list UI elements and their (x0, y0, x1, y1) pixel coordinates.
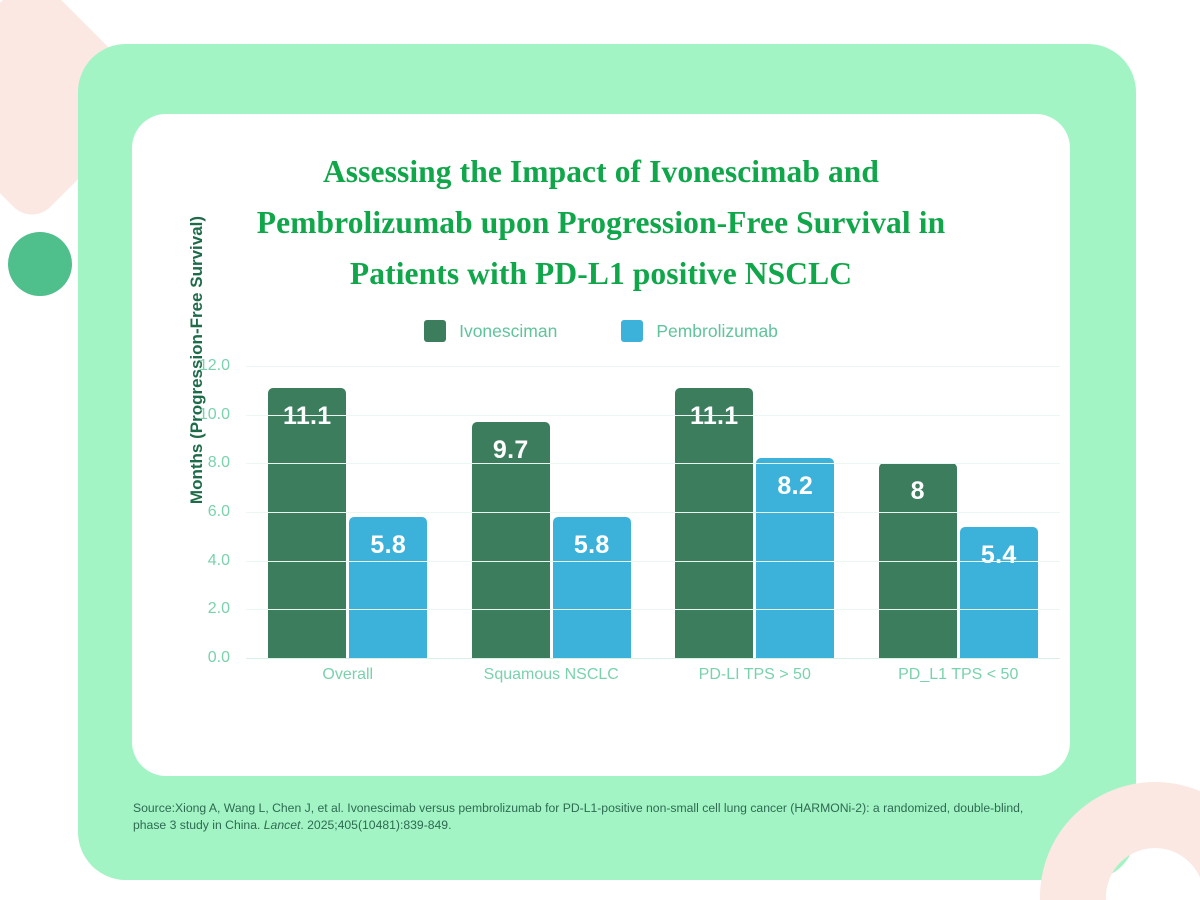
chart-panel: Assessing the Impact of Ivonescimab and … (132, 114, 1070, 776)
y-axis-tick: 0.0 (208, 649, 230, 667)
y-axis-tick: 12.0 (199, 357, 230, 375)
bar-ivonesciman[interactable]: 11.1 (268, 388, 346, 658)
x-axis-label: Squamous NSCLC (450, 666, 654, 684)
legend-label-ivonesciman: Ivonesciman (459, 321, 557, 342)
bar-value-label: 5.8 (574, 531, 610, 560)
bar-pembrolizumab[interactable]: 5.8 (349, 517, 427, 658)
chart-legend: Ivonesciman Pembrolizumab (132, 320, 1070, 342)
gridline (246, 512, 1060, 513)
legend-item-pembrolizumab[interactable]: Pembrolizumab (621, 320, 778, 342)
chart-title: Assessing the Impact of Ivonescimab and … (180, 146, 1022, 299)
chart-title-line-2: Pembrolizumab upon Progression-Free Surv… (180, 197, 1022, 248)
bar-ivonesciman[interactable]: 9.7 (472, 422, 550, 658)
bar-pembrolizumab[interactable]: 8.2 (756, 458, 834, 658)
x-axis-label: PD_L1 TPS < 50 (857, 666, 1061, 684)
plot-area: 11.15.89.75.811.18.285.4 (246, 366, 1060, 659)
y-axis-tick: 6.0 (208, 503, 230, 521)
slide-canvas: Assessing the Impact of Ivonescimab and … (0, 0, 1200, 900)
bar-value-label: 11.1 (690, 402, 738, 431)
bar-value-label: 5.8 (370, 531, 406, 560)
bar-value-label: 5.4 (981, 541, 1017, 570)
x-axis-label: Overall (246, 666, 450, 684)
gridline (246, 463, 1060, 464)
plot-wrapper: 12.010.08.06.04.02.00.0 11.15.89.75.811.… (190, 366, 1060, 706)
gridline (246, 415, 1060, 416)
chart-title-line-3: Patients with PD-L1 positive NSCLC (180, 248, 1022, 299)
decor-green-circle (8, 232, 72, 296)
x-axis-labels: OverallSquamous NSCLCPD-LI TPS > 50PD_L1… (246, 666, 1060, 684)
chart-title-line-1: Assessing the Impact of Ivonescimab and (180, 146, 1022, 197)
legend-item-ivonesciman[interactable]: Ivonesciman (424, 320, 557, 342)
gridline (246, 561, 1060, 562)
y-axis-ticks: 12.010.08.06.04.02.00.0 (190, 366, 238, 658)
bar-pembrolizumab[interactable]: 5.8 (553, 517, 631, 658)
bar-value-label: 11.1 (283, 402, 331, 431)
y-axis-tick: 4.0 (208, 552, 230, 570)
gridline (246, 366, 1060, 367)
gridline (246, 609, 1060, 610)
bar-value-label: 9.7 (493, 436, 529, 465)
y-axis-tick: 10.0 (199, 406, 230, 424)
y-axis-tick: 8.0 (208, 454, 230, 472)
legend-swatch-icon-ivonesciman (424, 320, 446, 342)
legend-label-pembrolizumab: Pembrolizumab (656, 321, 778, 342)
source-citation: Source:Xiong A, Wang L, Chen J, et al. I… (133, 800, 1043, 834)
y-axis-tick: 2.0 (208, 600, 230, 618)
x-axis-label: PD-LI TPS > 50 (653, 666, 857, 684)
bar-value-label: 8 (911, 477, 925, 506)
source-text-part-2: . 2025;405(10481):839-849. (300, 818, 451, 832)
bar-pembrolizumab[interactable]: 5.4 (960, 527, 1038, 658)
bar-value-label: 8.2 (777, 472, 813, 501)
bar-ivonesciman[interactable]: 11.1 (675, 388, 753, 658)
source-journal-name: Lancet (264, 818, 301, 832)
legend-swatch-icon-pembrolizumab (621, 320, 643, 342)
